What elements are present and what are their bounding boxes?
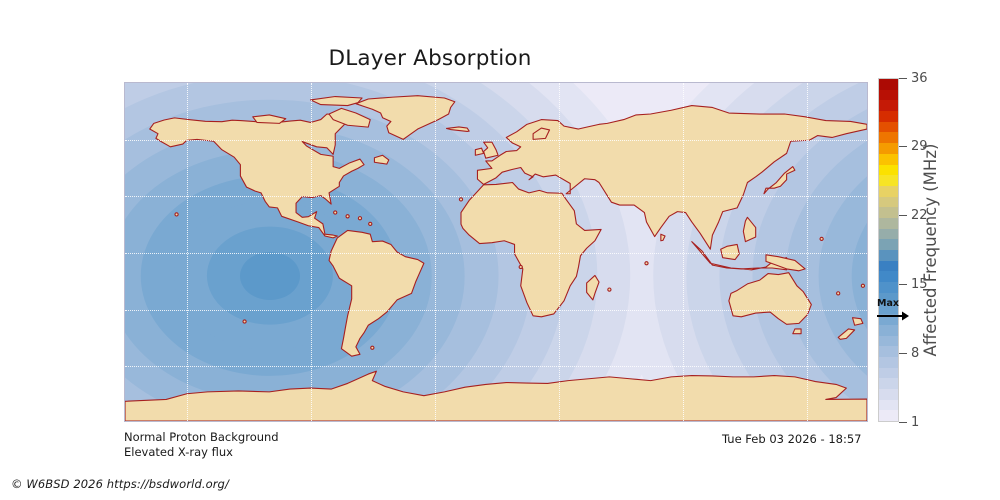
colorbar-max-marker: Max xyxy=(876,300,910,322)
max-marker-label: Max xyxy=(877,298,899,309)
landmass-africa xyxy=(461,183,601,317)
page-title: DLayer Absorption xyxy=(0,46,930,71)
landmass-new-zealand-s xyxy=(838,329,854,339)
island-marker xyxy=(346,215,349,218)
colorbar-segment xyxy=(879,143,898,154)
colorbar-segment xyxy=(879,100,898,111)
landmass-antarctica xyxy=(125,371,867,421)
colorbar-segment xyxy=(879,79,898,90)
tick-dash-icon xyxy=(899,353,907,354)
colorbar-segment xyxy=(879,154,898,165)
colorbar-segment xyxy=(879,325,898,336)
tick-dash-icon xyxy=(899,422,907,423)
timestamp-text: Tue Feb 03 2026 - 18:57 xyxy=(722,432,861,446)
island-marker xyxy=(519,265,522,268)
tick-dash-icon xyxy=(899,146,907,147)
colorbar-segment xyxy=(879,229,898,240)
landmass-iceland xyxy=(447,127,470,131)
island-marker xyxy=(837,292,840,295)
landmass-india-sri xyxy=(661,234,665,241)
landmass-madagascar xyxy=(587,275,599,299)
colorbar-segment xyxy=(879,218,898,229)
landmass-tasmania xyxy=(793,329,801,334)
landmass-philippines xyxy=(743,217,755,241)
colorbar-segment xyxy=(879,357,898,368)
land-coastline-layer xyxy=(125,83,867,421)
colorbar-gradient xyxy=(878,78,899,422)
map-plot-area[interactable] xyxy=(124,82,868,422)
arrow-right-icon xyxy=(876,310,910,322)
colorbar-segment xyxy=(879,239,898,250)
colorbar-segment xyxy=(879,400,898,411)
colorbar-segment xyxy=(879,346,898,357)
island-marker xyxy=(371,346,374,349)
island-marker xyxy=(608,288,611,291)
island-marker xyxy=(369,222,372,225)
island-marker xyxy=(358,217,361,220)
tick-dash-icon xyxy=(899,215,907,216)
landmass-greenland xyxy=(356,96,455,140)
landmass-north-america xyxy=(150,114,364,238)
island-marker xyxy=(820,237,823,240)
colorbar-axis-label: Affected Frequency (MHz) xyxy=(918,78,944,422)
landmass-new-zealand-n xyxy=(853,318,863,326)
island-marker xyxy=(645,262,648,265)
colorbar-segment xyxy=(879,282,898,293)
colorbar-segment xyxy=(879,122,898,133)
colorbar-segment xyxy=(879,336,898,347)
island-marker xyxy=(243,320,246,323)
colorbar-segment xyxy=(879,261,898,272)
landmass-borneo xyxy=(721,244,740,259)
colorbar-segment xyxy=(879,250,898,261)
colorbar-segment xyxy=(879,378,898,389)
landmass-ireland xyxy=(475,148,483,155)
tick-dash-icon xyxy=(899,284,907,285)
colorbar-segment xyxy=(879,175,898,186)
xray-status-text: Elevated X-ray flux xyxy=(124,445,233,459)
landmass-newfoundland xyxy=(374,155,388,164)
island-marker xyxy=(459,198,462,201)
colorbar-segment xyxy=(879,197,898,208)
proton-status-text: Normal Proton Background xyxy=(124,430,279,444)
colorbar-segment xyxy=(879,368,898,379)
island-marker xyxy=(175,213,178,216)
landmass-japan xyxy=(764,167,795,194)
landmass-south-america xyxy=(329,230,424,356)
island-marker xyxy=(334,211,337,214)
colorbar-segment xyxy=(879,410,898,421)
tick-dash-icon xyxy=(899,78,907,79)
colorbar-segment xyxy=(879,207,898,218)
island-marker xyxy=(861,284,864,287)
colorbar-segment xyxy=(879,186,898,197)
landmass-australia xyxy=(729,273,811,325)
colorbar-segment xyxy=(879,111,898,122)
colorbar-segment xyxy=(879,90,898,101)
colorbar-segment xyxy=(879,165,898,176)
landmass-victoria xyxy=(253,115,286,123)
colorbar-segment xyxy=(879,132,898,143)
figure-canvas: DLayer Absorption xyxy=(0,0,1000,500)
landmass-british-isles xyxy=(484,142,498,158)
copyright-text: © W6BSD 2026 https://bsdworld.org/ xyxy=(11,477,229,491)
colorbar-segment xyxy=(879,271,898,282)
colorbar[interactable] xyxy=(878,78,899,422)
colorbar-segment xyxy=(879,389,898,400)
landmass-ellesmere xyxy=(311,97,363,106)
map-inner xyxy=(125,83,867,421)
